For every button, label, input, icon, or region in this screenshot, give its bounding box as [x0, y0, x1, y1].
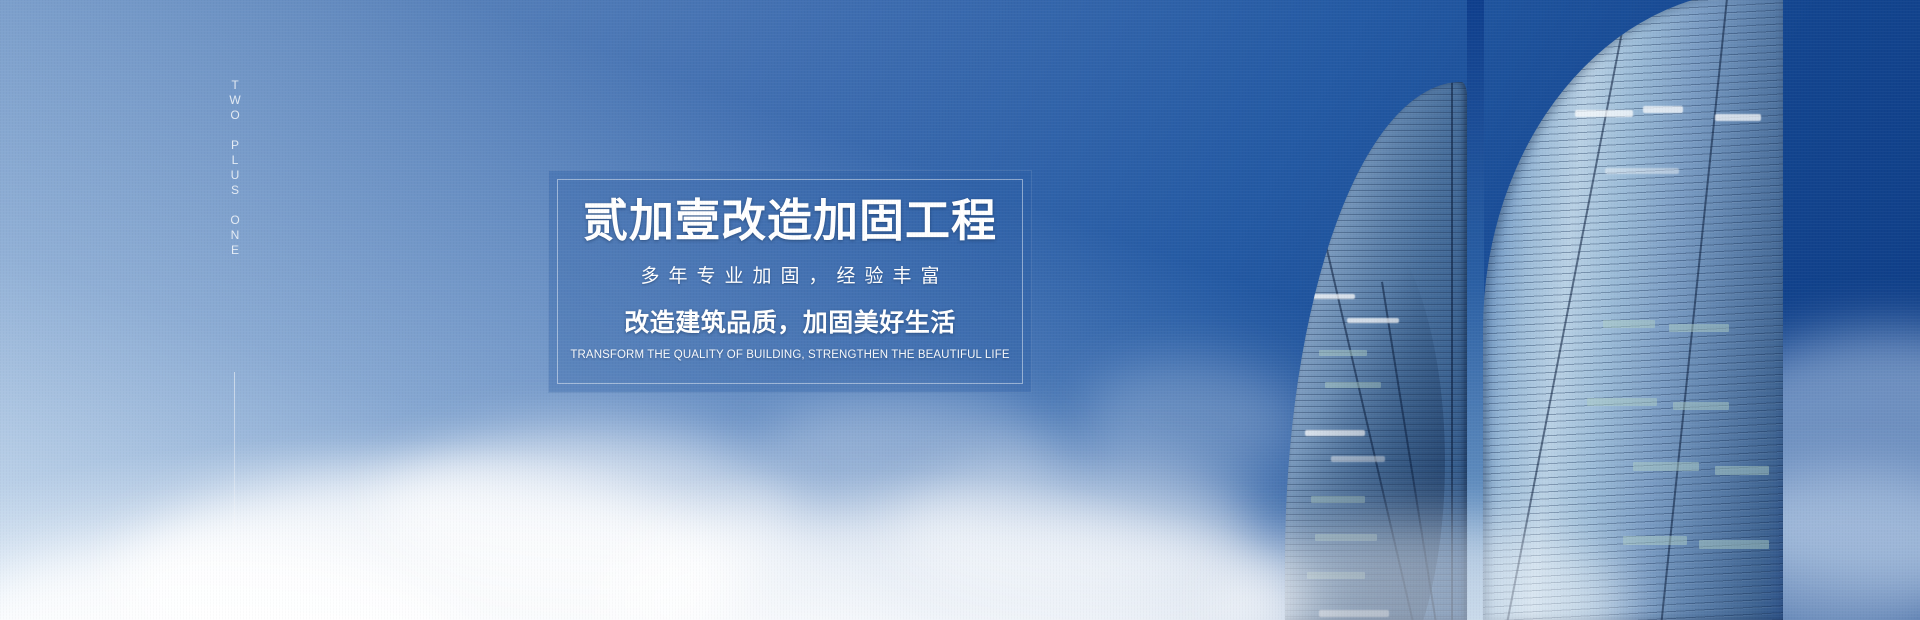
front-tower	[1285, 82, 1467, 620]
brand-watermark: 二	[178, 573, 191, 583]
window-light	[1319, 350, 1367, 356]
glass-highlight	[1305, 430, 1365, 436]
tower-gap-sky	[1467, 0, 1484, 620]
panel-content: 贰加壹改造加固工程 多年专业加固，经验丰富 改造建筑品质，加固美好生活 TRAN…	[548, 170, 1032, 393]
window-light	[1623, 536, 1687, 545]
glass-highlight	[1605, 168, 1679, 174]
page-title: 贰加壹改造加固工程	[583, 196, 997, 246]
rear-tower	[1483, 0, 1783, 620]
tower-floor-bands	[1285, 82, 1467, 620]
tower-mullion	[1315, 202, 1434, 620]
glass-highlight	[1319, 610, 1389, 617]
window-light	[1311, 496, 1365, 503]
cloud-shape	[760, 398, 1060, 508]
glass-highlight	[1715, 114, 1761, 121]
window-light	[1699, 540, 1769, 549]
window-light	[1307, 572, 1365, 579]
glass-highlight	[1331, 456, 1385, 462]
tower-mullion	[1381, 282, 1455, 620]
glass-highlight	[1309, 294, 1355, 299]
cloud-shape	[0, 540, 460, 620]
slogan-english-text: TRANSFORM THE QUALITY OF BUILDING, STREN…	[570, 349, 1009, 363]
vertical-brand-text: TWO PLUS ONE	[222, 78, 248, 258]
window-light	[1715, 466, 1769, 475]
cloud-shape	[1700, 470, 1920, 620]
cloud-shape	[120, 470, 740, 620]
window-light	[1673, 402, 1729, 410]
glass-highlight	[1347, 318, 1399, 323]
headline-panel: 贰加壹改造加固工程 多年专业加固，经验丰富 改造建筑品质，加固美好生活 TRAN…	[548, 170, 1032, 393]
window-light	[1633, 462, 1699, 471]
glass-highlight	[1643, 106, 1683, 113]
window-light	[1669, 324, 1729, 332]
tower-mullion	[1451, 82, 1453, 620]
subtitle-text: 多年专业加固，经验丰富	[631, 266, 948, 289]
slogan-text: 改造建筑品质，加固美好生活	[624, 308, 956, 338]
cloud-shape	[1080, 360, 1300, 480]
tower-mullion	[1496, 0, 1635, 620]
cloud-shape	[1210, 520, 1630, 620]
skyscraper-group	[1285, 0, 1705, 620]
window-light	[1325, 382, 1381, 388]
window-light	[1315, 534, 1377, 541]
tower-mullion	[1654, 0, 1731, 620]
tower-mullion	[1483, 0, 1497, 620]
cloud-shape	[1680, 330, 1920, 590]
glass-highlight	[1575, 110, 1633, 117]
window-light	[1603, 320, 1655, 328]
cloud-shape	[380, 430, 800, 600]
tower-floor-bands	[1483, 0, 1783, 620]
cloud-shape	[600, 500, 1300, 620]
window-light	[1587, 398, 1657, 406]
cloud-shape	[900, 455, 1260, 605]
vertical-divider-line	[234, 372, 235, 612]
tower-mullion	[1483, 0, 1543, 620]
hero-banner: TWO PLUS ONE 二 贰加壹改造加固工程 多年专业加固，经验丰富 改造建…	[0, 0, 1920, 620]
